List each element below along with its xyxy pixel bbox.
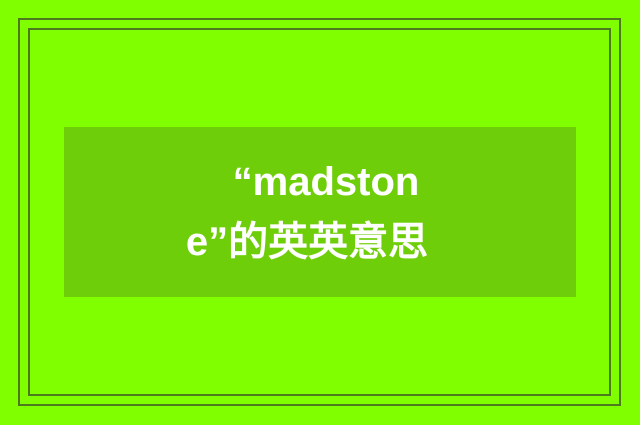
headline-line-2: e”的英英意思 bbox=[186, 212, 454, 272]
headline-plate: “madston e”的英英意思 bbox=[64, 127, 576, 297]
banner-canvas: “madston e”的英英意思 bbox=[0, 0, 640, 425]
headline-line-1: “madston bbox=[221, 152, 420, 212]
